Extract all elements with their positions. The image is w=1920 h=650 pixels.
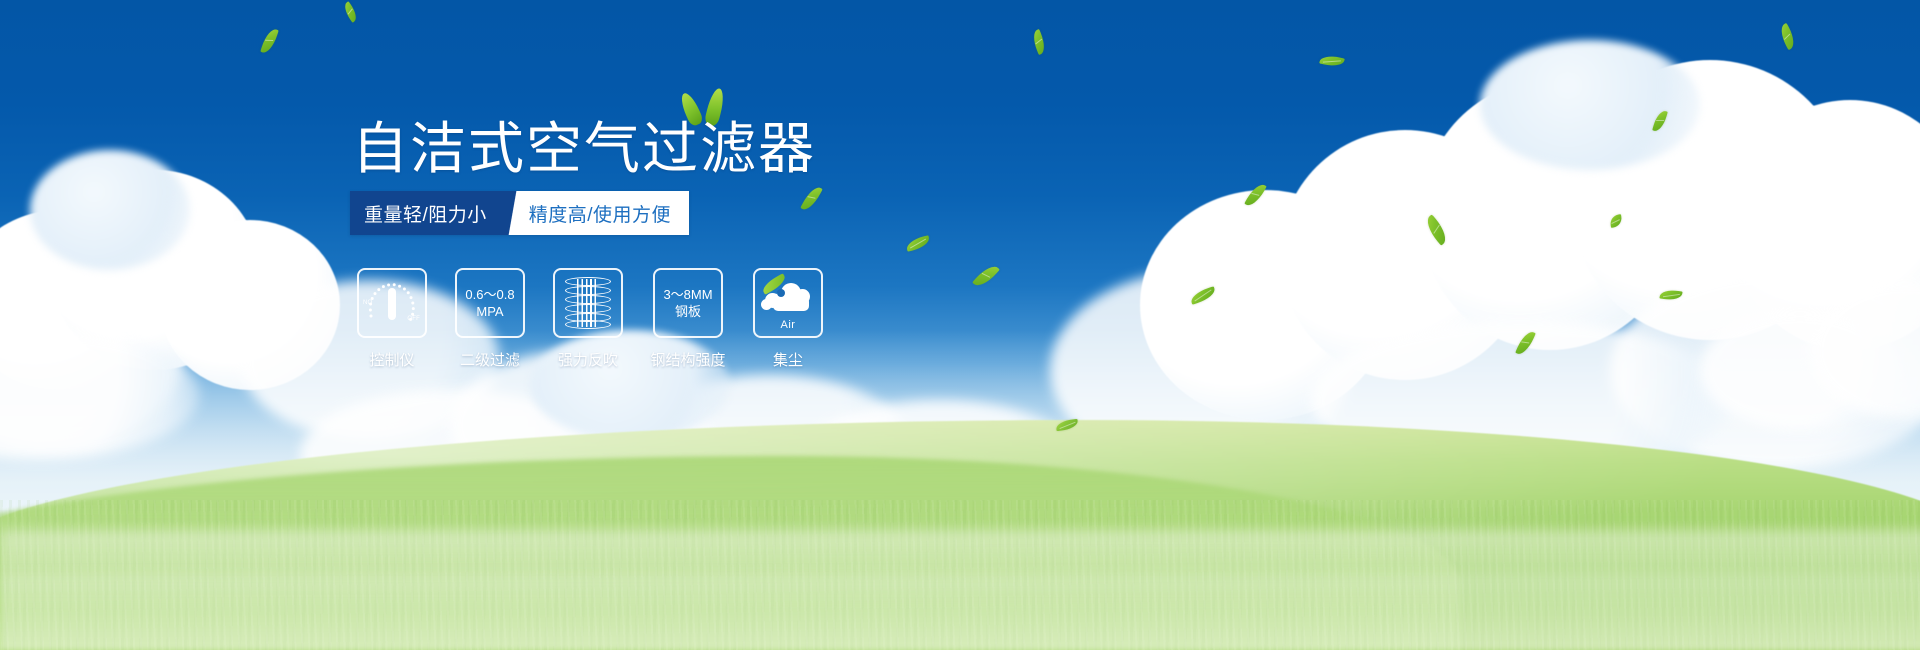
gauge-max-label: OFF [407,316,420,322]
gauge-min-label: NO [363,300,372,306]
feature-item-two-stage-filter[interactable]: 0.6～0.8 MPA 二级过滤 [454,268,526,370]
cartridge-ring-icon [565,320,611,329]
product-banner: 自洁式空气过滤器 重量轻/阻力小 精度高/使用方便 [0,0,1920,650]
feature-label: 二级过滤 [460,349,520,370]
air-label: Air [759,319,817,331]
feature-label: 强力反吹 [558,349,618,370]
pressure-unit-text: MPA [476,303,503,320]
feature-icon-box: 3～8MM 钢板 [653,268,723,338]
cartridge-ring-icon [565,286,611,295]
feature-item-dust-collection[interactable]: Air 集尘 [752,268,824,370]
feature-icon-box: NO OFF [357,268,427,338]
tagline-badge-bar: 重量轻/阻力小 精度高/使用方便 [350,191,689,235]
banner-content: 自洁式空气过滤器 重量轻/阻力小 精度高/使用方便 [0,0,1920,650]
filter-cartridge-icon [565,277,611,329]
cloud-air-icon: Air [759,277,817,329]
feature-item-controller[interactable]: NO OFF 控制仪 [356,268,428,370]
feature-label: 控制仪 [369,349,414,370]
pressure-range-text: 0.6～0.8 [465,286,514,303]
gauge-icon: NO OFF [363,278,421,328]
feature-label: 钢结构强度 [650,349,725,370]
steel-material-text: 钢板 [675,303,701,320]
cartridge-ring-icon [565,295,611,304]
feature-icon-row: NO OFF 控制仪 0.6～0.8 MPA 二级过滤 [356,268,824,370]
tagline-badge-secondary: 精度高/使用方便 [525,191,689,235]
steel-thickness-text: 3～8MM [663,286,712,303]
tagline-badge-primary: 重量轻/阻力小 [350,191,503,235]
cartridge-ring-icon [565,304,611,313]
feature-icon-box: 0.6～0.8 MPA [455,268,525,338]
cartridge-ring-icon [565,277,611,286]
page-title: 自洁式空气过滤器 [352,118,816,180]
tagline-badge-separator [503,191,525,235]
gauge-needle-icon [388,288,396,320]
feature-icon-box: Air [753,268,823,338]
cloud-cutout-icon [777,289,785,297]
feature-item-steel-strength[interactable]: 3～8MM 钢板 钢结构强度 [650,268,726,370]
feature-label: 集尘 [773,349,803,370]
feature-item-strong-backblow[interactable]: 强力反吹 [552,268,624,370]
feature-icon-box [553,268,623,338]
